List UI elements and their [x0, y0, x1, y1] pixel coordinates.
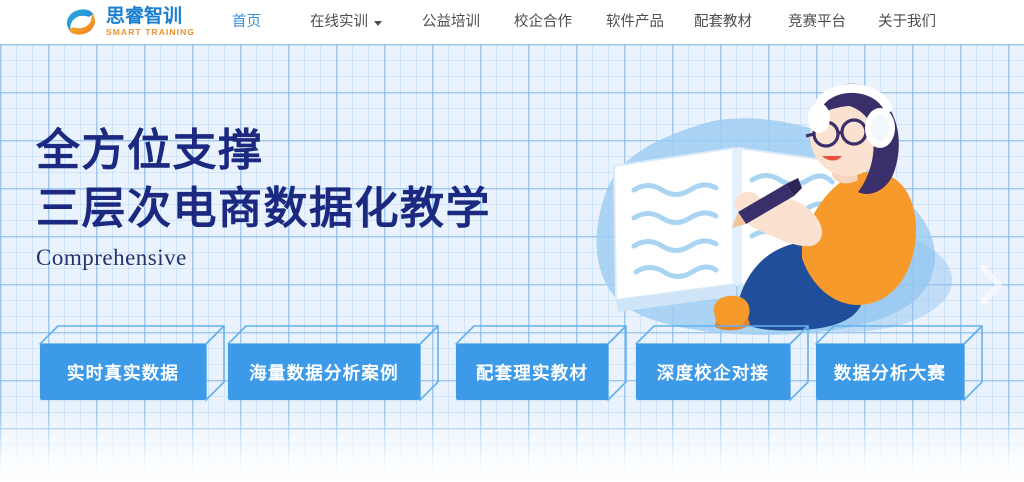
hero-headline-line1: 全方位支撑: [36, 122, 491, 180]
feature-button[interactable]: 配套理实教材: [456, 326, 626, 400]
feature-button-face[interactable]: 海量数据分析案例: [228, 344, 420, 400]
nav-item-label: 在线实训: [310, 0, 368, 44]
nav-item-7[interactable]: 关于我们: [878, 0, 936, 44]
feature-button-label: 数据分析大赛: [834, 360, 946, 385]
page-root: 思睿智训 SMART TRAINING 首页在线实训公益培训校企合作软件产品配套…: [0, 0, 1024, 482]
nav-item-3[interactable]: 校企合作: [514, 0, 572, 44]
hero-banner: 全方位支撑 三层次电商数据化教学 Comprehensive 实时真实数据海量数…: [0, 44, 1024, 482]
logo-text-block: 思睿智训 SMART TRAINING: [106, 5, 195, 39]
hero-subheadline: Comprehensive: [36, 245, 491, 271]
site-logo[interactable]: 思睿智训 SMART TRAINING: [62, 4, 195, 40]
hero-text-block: 全方位支撑 三层次电商数据化教学 Comprehensive: [36, 122, 491, 271]
feature-button[interactable]: 实时真实数据: [40, 326, 224, 400]
feature-button-row: 实时真实数据海量数据分析案例配套理实教材深度校企对接数据分析大赛: [0, 326, 1024, 426]
feature-button-face[interactable]: 配套理实教材: [456, 344, 608, 400]
nav-item-6[interactable]: 竞赛平台: [788, 0, 846, 44]
feature-button-face[interactable]: 深度校企对接: [636, 344, 790, 400]
nav-item-label: 首页: [232, 0, 261, 44]
nav-item-label: 公益培训: [422, 0, 480, 44]
feature-button-label: 海量数据分析案例: [249, 360, 399, 385]
nav-item-label: 配套教材: [694, 0, 752, 44]
feature-button-label: 实时真实数据: [67, 360, 179, 385]
logo-english-name: SMART TRAINING: [106, 27, 195, 38]
nav-item-label: 软件产品: [606, 0, 664, 44]
chevron-down-icon: [374, 21, 382, 26]
nav-item-0[interactable]: 首页: [232, 0, 261, 44]
nav-item-4[interactable]: 软件产品: [606, 0, 664, 44]
feature-button-label: 深度校企对接: [657, 360, 769, 385]
nav-item-label: 校企合作: [514, 0, 572, 44]
nav-item-1[interactable]: 在线实训: [310, 0, 382, 44]
student-reading-book-illustration: [586, 62, 986, 352]
nav-item-5[interactable]: 配套教材: [694, 0, 752, 44]
nav-item-2[interactable]: 公益培训: [422, 0, 480, 44]
feature-button-face[interactable]: 实时真实数据: [40, 344, 206, 400]
feature-button-label: 配套理实教材: [476, 360, 588, 385]
feature-button-face[interactable]: 数据分析大赛: [816, 344, 964, 400]
feature-button[interactable]: 深度校企对接: [636, 326, 808, 400]
chevron-right-icon[interactable]: [976, 262, 1006, 308]
hexagon-swirl-logo-icon: [62, 5, 100, 39]
nav-item-label: 关于我们: [878, 0, 936, 44]
nav-item-label: 竞赛平台: [788, 0, 846, 44]
site-header: 思睿智训 SMART TRAINING 首页在线实训公益培训校企合作软件产品配套…: [0, 0, 1024, 44]
hero-headline-line2: 三层次电商数据化教学: [36, 180, 491, 238]
feature-button[interactable]: 数据分析大赛: [816, 326, 982, 400]
feature-button[interactable]: 海量数据分析案例: [228, 326, 438, 400]
logo-chinese-name: 思睿智训: [106, 7, 195, 27]
